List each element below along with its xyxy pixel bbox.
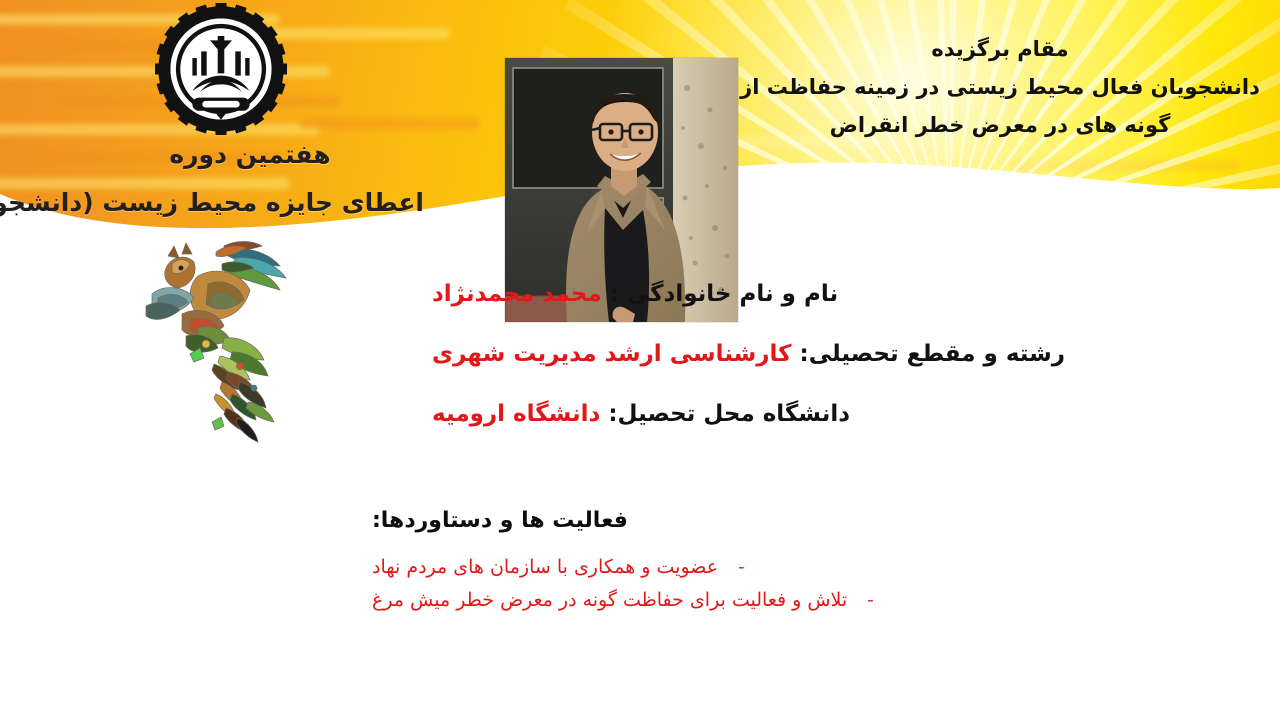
winner-university-label: دانشگاه محل تحصیل: (608, 401, 850, 427)
bullet-dash-icon: - (867, 589, 873, 611)
achievement-item-2: - تلاش و فعالیت برای حفاظت گونه در معرض … (372, 589, 1272, 611)
winner-name-row: نام و نام خانوادگی : محمد محمدنژاد (432, 280, 1272, 309)
bird-collage-graphic (128, 232, 318, 447)
winner-university-row: دانشگاه محل تحصیل: دانشگاه ارومیه (432, 400, 1272, 429)
award-slide: هفتمین دوره اعطای جایزه محیط زیست (دانشج… (0, 0, 1280, 720)
achievement-item-1-text: عضویت و همکاری با سازمان های مردم نهاد (372, 556, 718, 578)
award-category-line-2: گونه های در معرض خطر انقراض (740, 106, 1260, 144)
award-rank-label: مقام برگزیده (740, 30, 1260, 68)
event-edition-title: هفتمین دوره (100, 140, 400, 169)
achievement-item-2-text: تلاش و فعالیت برای حفاظت گونه در معرض خط… (372, 589, 847, 611)
iut-logo-icon (155, 3, 287, 135)
bullet-dash-icon: - (738, 556, 744, 578)
award-category-line-1: دانشجویان فعال محیط زیستی در زمینه حفاظت… (740, 68, 1260, 106)
award-category-block: مقام برگزیده دانشجویان فعال محیط زیستی د… (740, 30, 1260, 145)
achievement-item-1: - عضویت و همکاری با سازمان های مردم نهاد (372, 556, 1272, 578)
winner-name-value: محمد محمدنژاد (432, 281, 602, 307)
event-award-title: اعطای جایزه محیط زیست (دانشجویی) (4, 188, 424, 217)
winner-university-value: دانشگاه ارومیه (432, 401, 600, 427)
winner-field-row: رشته و مقطع تحصیلی: کارشناسی ارشد مدیریت… (432, 340, 1272, 369)
winner-field-label: رشته و مقطع تحصیلی: (800, 341, 1066, 367)
winner-name-label: نام و نام خانوادگی : (610, 281, 838, 307)
winner-field-value: کارشناسی ارشد مدیریت شهری (432, 341, 791, 367)
achievements-title: فعالیت ها و دستاوردها: (372, 508, 1272, 533)
